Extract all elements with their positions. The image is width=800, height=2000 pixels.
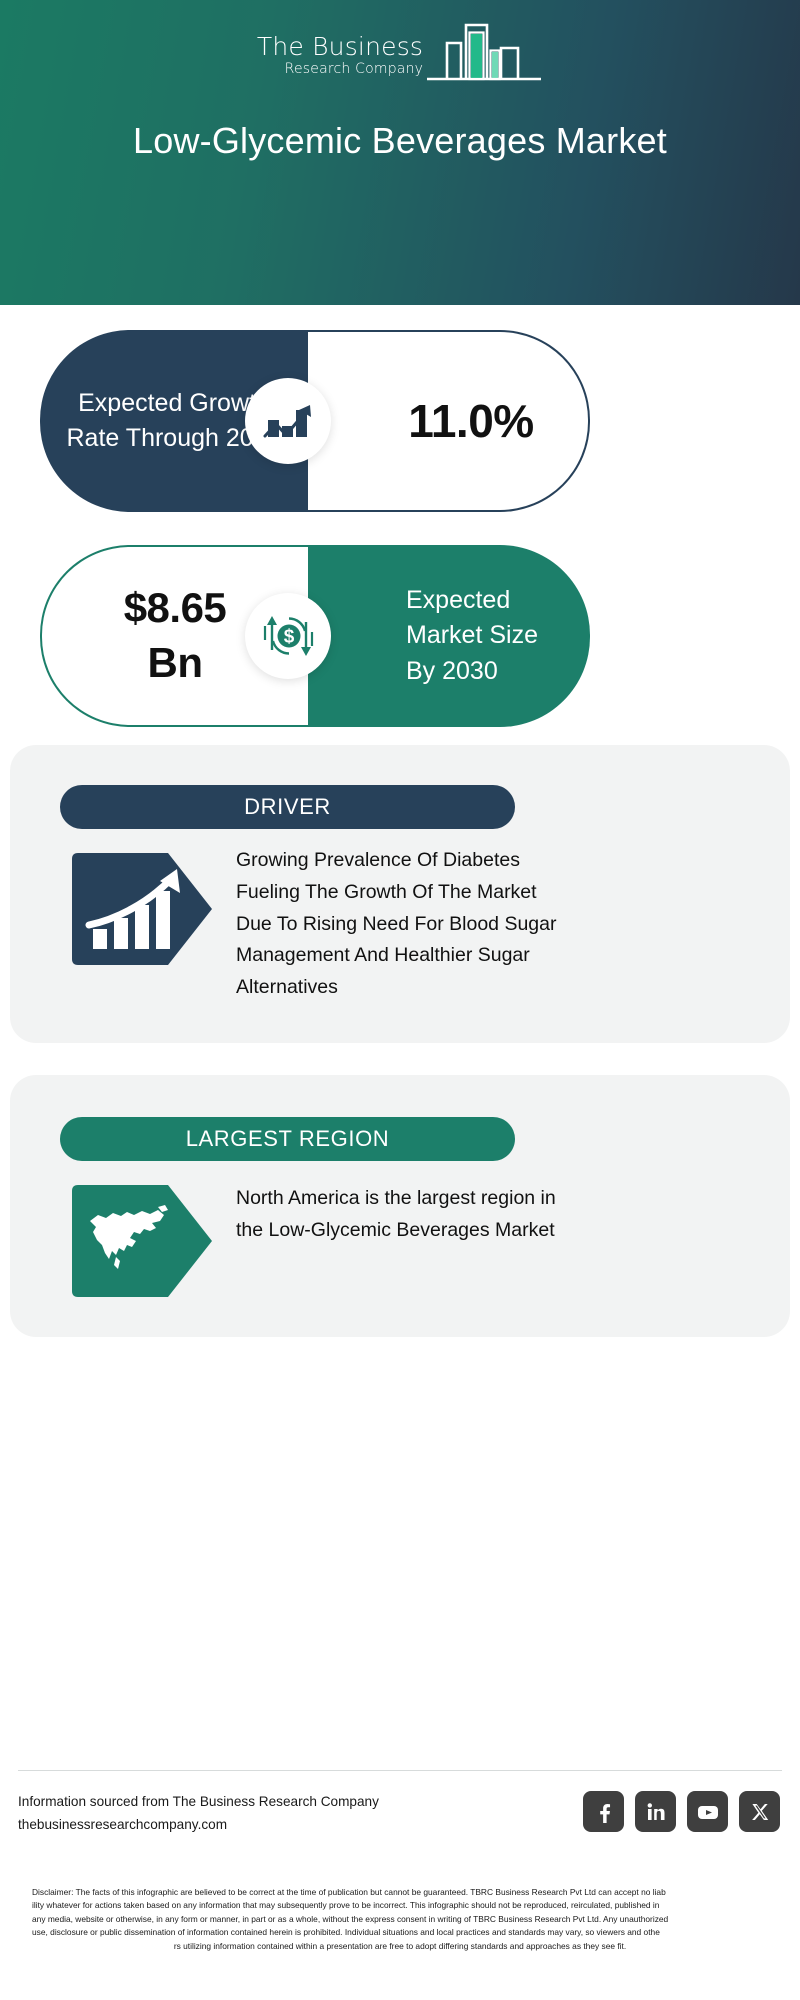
stat-card-market-size-value-line2: Bn bbox=[124, 636, 227, 691]
driver-pill: DRIVER bbox=[60, 785, 515, 829]
north-america-map-icon bbox=[72, 1185, 212, 1297]
stat-card-growth-rate-value: 11.0% bbox=[362, 394, 533, 448]
disclaimer-text: Disclaimer: The facts of this infographi… bbox=[32, 1886, 768, 1953]
stat-card-market-size-value-line1: $8.65 bbox=[124, 581, 227, 636]
stat-card-growth-rate-value-side: 11.0% bbox=[308, 330, 590, 512]
stat-card-market-size-label-side: Expected Market Size By 2030 bbox=[308, 545, 590, 727]
infographic-page: The Business Research Company Low-Glycem… bbox=[0, 0, 800, 2000]
company-logo: The Business Research Company bbox=[257, 22, 543, 84]
logo-line-1: The Business bbox=[257, 34, 423, 59]
social-links bbox=[583, 1791, 780, 1832]
disclaimer-line: ility whatever for actions taken based o… bbox=[32, 1899, 768, 1912]
growth-chart-icon bbox=[245, 378, 331, 464]
driver-pill-label: DRIVER bbox=[244, 794, 331, 820]
source-line-1: Information sourced from The Business Re… bbox=[18, 1790, 379, 1813]
bar-chart-logo-icon bbox=[425, 22, 543, 84]
largest-region-pill-label: LARGEST REGION bbox=[186, 1126, 390, 1152]
growth-bars-arrow-icon bbox=[72, 853, 212, 965]
source-info: Information sourced from The Business Re… bbox=[18, 1790, 379, 1837]
logo-line-2: Research Company bbox=[285, 59, 423, 80]
source-line-2[interactable]: thebusinessresearchcompany.com bbox=[18, 1813, 379, 1836]
disclaimer-line: Disclaimer: The facts of this infographi… bbox=[32, 1886, 768, 1899]
svg-text:$: $ bbox=[284, 627, 295, 648]
largest-region-pill: LARGEST REGION bbox=[60, 1117, 515, 1161]
disclaimer-line: any media, website or otherwise, in any … bbox=[32, 1913, 768, 1926]
footer-divider bbox=[18, 1770, 782, 1771]
disclaimer-line: use, disclosure or public dissemination … bbox=[32, 1926, 768, 1939]
stat-card-market-size-label: Expected Market Size By 2030 bbox=[354, 583, 544, 690]
stat-card-market-size-value: $8.65 Bn bbox=[124, 581, 227, 690]
youtube-icon[interactable] bbox=[687, 1791, 728, 1832]
dollar-cycle-icon: $ bbox=[245, 593, 331, 679]
disclaimer-line: rs utilizing information contained withi… bbox=[32, 1940, 768, 1953]
facebook-icon[interactable] bbox=[583, 1791, 624, 1832]
largest-region-text: North America is the largest region in t… bbox=[236, 1183, 576, 1247]
header-banner: The Business Research Company Low-Glycem… bbox=[0, 0, 800, 305]
linkedin-icon[interactable] bbox=[635, 1791, 676, 1832]
x-twitter-icon[interactable] bbox=[739, 1791, 780, 1832]
page-title: Low-Glycemic Beverages Market bbox=[80, 118, 720, 164]
logo-text-block: The Business Research Company bbox=[257, 34, 423, 84]
driver-text: Growing Prevalence Of Diabetes Fueling T… bbox=[236, 845, 576, 1004]
